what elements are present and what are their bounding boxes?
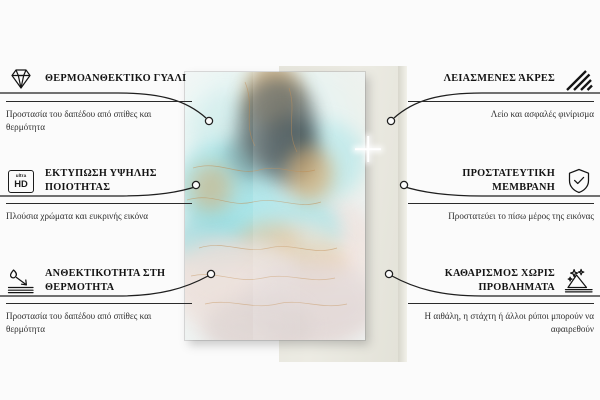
feature-protective-membrane[interactable]: ΠΡΟΣΤΑΤΕΥΤΙΚΗ ΜΕΜΒΡΑΝΗ Προστατεύει το πί…	[408, 164, 594, 223]
polished-edge-icon	[564, 64, 594, 94]
feature-title: ΕΚΤΥΠΩΣΗ ΥΨΗΛΗΣ ΠΟΙΟΤΗΤΑΣ	[45, 167, 192, 194]
infographic-stage: ΘΕΡΜΟΑΝΘΕΚΤΙΚΟ ΓΥΑΛΙ Προστασία του δαπέδ…	[0, 0, 600, 400]
divider	[408, 303, 594, 304]
ultra-hd-badge-icon: ultra HD	[6, 166, 36, 196]
feature-description: Προστασία του δαπέδου από σπίθες και θερ…	[6, 310, 192, 336]
shield-check-icon	[564, 166, 594, 196]
feature-heat-durability[interactable]: ΑΝΘΕΚΤΙΚΟΤΗΤΑ ΣΤΗ ΘΕΡΜΟΤΗΤΑ Προστασία το…	[6, 264, 192, 336]
product-image	[183, 70, 399, 360]
feature-title: ΘΕΡΜΟΑΝΘΕΚΤΙΚΟ ΓΥΑΛΙ	[45, 72, 186, 86]
divider	[6, 101, 192, 102]
feature-high-quality-print[interactable]: ultra HD ΕΚΤΥΠΩΣΗ ΥΨΗΛΗΣ ΠΟΙΟΤΗΤΑΣ Πλούσ…	[6, 164, 192, 223]
feature-description: Πλούσια χρώματα και ευκρινής εικόνα	[6, 210, 192, 223]
feature-description: Η αιθάλη, η στάχτη ή άλλοι ρύποι μπορούν…	[408, 310, 594, 336]
feature-title: ΛΕΙΑΣΜΕΝΕΣ ΆΚΡΕΣ	[444, 72, 555, 86]
feature-title: ΑΝΘΕΚΤΙΚΟΤΗΤΑ ΣΤΗ ΘΕΡΜΟΤΗΤΑ	[45, 267, 192, 294]
divider	[6, 203, 192, 204]
feature-heat-resistant-glass[interactable]: ΘΕΡΜΟΑΝΘΕΚΤΙΚΟ ΓΥΑΛΙ Προστασία του δαπέδ…	[6, 62, 192, 134]
sparkle-clean-icon	[564, 266, 594, 296]
hd-label: HD	[14, 179, 28, 188]
divider	[408, 101, 594, 102]
feature-easy-cleaning[interactable]: ΚΑΘΑΡΙΣΜΟΣ ΧΩΡΙΣ ΠΡΟΒΛΗΜΑΤΑ Η αιθάλη, η …	[408, 264, 594, 336]
divider	[6, 303, 192, 304]
feature-title: ΠΡΟΣΤΑΤΕΥΤΙΚΗ ΜΕΜΒΡΑΝΗ	[408, 167, 555, 194]
feature-description: Προστατεύει το πίσω μέρος της εικόνας	[408, 210, 594, 223]
glass-splashback-panel	[185, 72, 365, 340]
flame-deflect-icon	[6, 266, 36, 296]
divider	[408, 203, 594, 204]
feature-description: Προστασία του δαπέδου από σπίθες και θερ…	[6, 108, 192, 134]
diamond-icon	[6, 64, 36, 94]
feature-description: Λείο και ασφαλές φινίρισμα	[408, 108, 594, 121]
feature-title: ΚΑΘΑΡΙΣΜΟΣ ΧΩΡΙΣ ΠΡΟΒΛΗΜΑΤΑ	[408, 267, 555, 294]
feature-polished-edges[interactable]: ΛΕΙΑΣΜΕΝΕΣ ΆΚΡΕΣ Λείο και ασφαλές φινίρι…	[408, 62, 594, 121]
